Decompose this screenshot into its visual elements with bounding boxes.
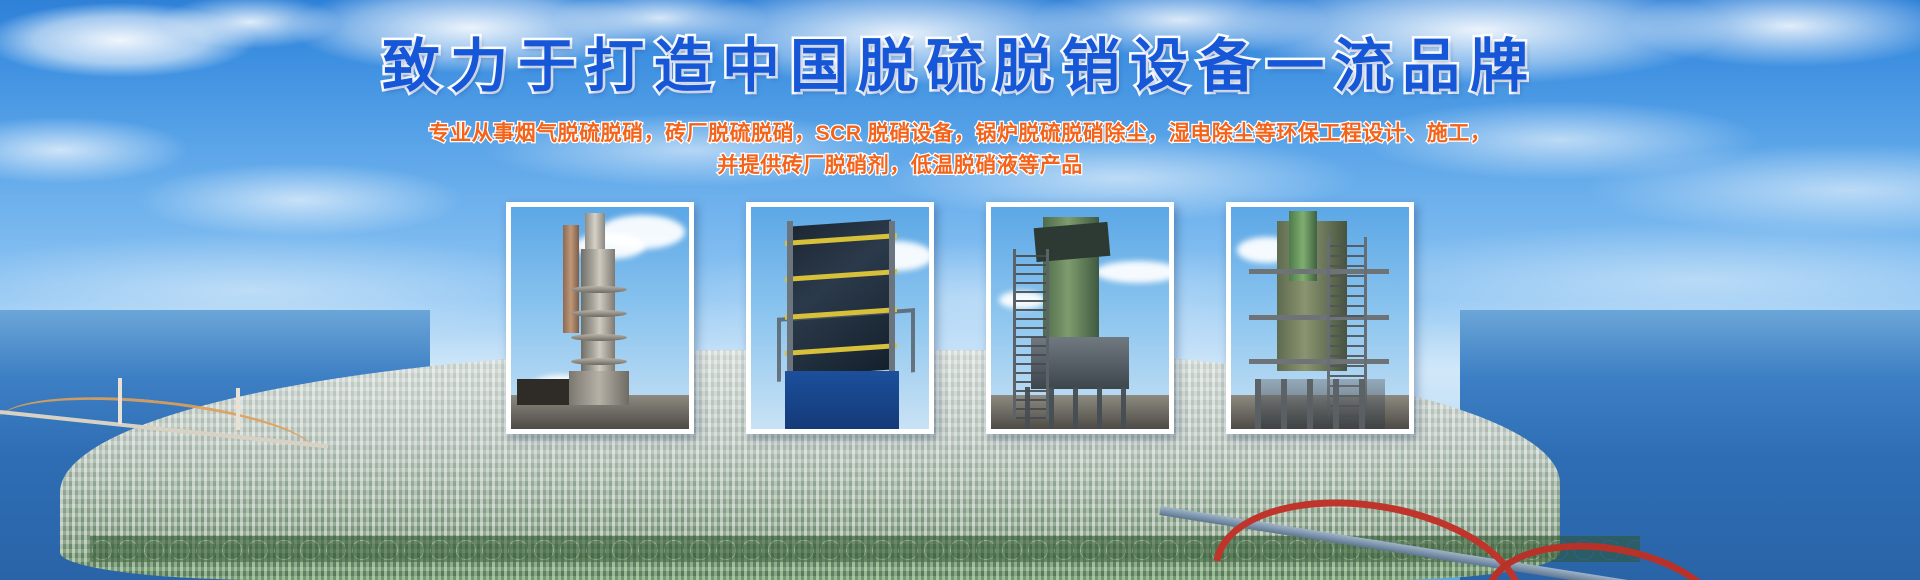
- photo-frame: [991, 207, 1169, 429]
- bridge-pylon: [118, 378, 122, 424]
- support-legs: [1025, 387, 1135, 429]
- photo-frame: [1231, 207, 1409, 429]
- photo-frame: [751, 207, 929, 429]
- bridge-cable: [0, 384, 320, 454]
- blue-cladding: [785, 371, 899, 429]
- platform-deck: [1249, 269, 1389, 274]
- platform-deck: [1249, 359, 1389, 364]
- photo-wet-esp-equipment[interactable]: [1226, 202, 1414, 434]
- suspension-bridge-icon: [0, 370, 330, 450]
- platform-deck: [1249, 315, 1389, 320]
- bridge-pylon: [236, 388, 240, 430]
- tower-base: [569, 371, 629, 405]
- red-arch-bridge-icon: [1160, 460, 1680, 580]
- photo-frame: [511, 207, 689, 429]
- plant-building: [517, 379, 575, 405]
- product-photo-strip: [506, 202, 1414, 434]
- subtitle-line-1: 专业从事烟气脱硫脱硝，砖厂脱硫脱硝，SCR 脱硝设备，锅炉脱硫脱硝除尘，湿电除尘…: [0, 118, 1920, 150]
- support-column: [787, 221, 793, 391]
- tower-ring: [571, 334, 627, 341]
- subtitle-line-2: 并提供砖厂脱硝剂，低温脱硝液等产品: [0, 150, 1920, 182]
- arch-span: [1214, 479, 1537, 580]
- support-column: [889, 221, 895, 391]
- banner-subtitle: 专业从事烟气脱硫脱硝，砖厂脱硫脱硝，SCR 脱硝设备，锅炉脱硫脱硝除尘，湿电除尘…: [0, 118, 1920, 182]
- banner-headline: 致力于打造中国脱硫脱销设备一流品牌: [0, 38, 1920, 96]
- tower-ring: [571, 358, 627, 365]
- tower-ring: [571, 286, 627, 293]
- photo-boiler-dust-removal[interactable]: [986, 202, 1174, 434]
- tower-ring: [571, 310, 627, 317]
- photo-scr-denitrification-tower[interactable]: [746, 202, 934, 434]
- promo-banner: 致力于打造中国脱硫脱销设备一流品牌 专业从事烟气脱硫脱硝，砖厂脱硫脱硝，SCR …: [0, 0, 1920, 580]
- support-structure: [1255, 379, 1385, 429]
- brick-chimney: [563, 225, 579, 333]
- photo-desulfurization-stack[interactable]: [506, 202, 694, 434]
